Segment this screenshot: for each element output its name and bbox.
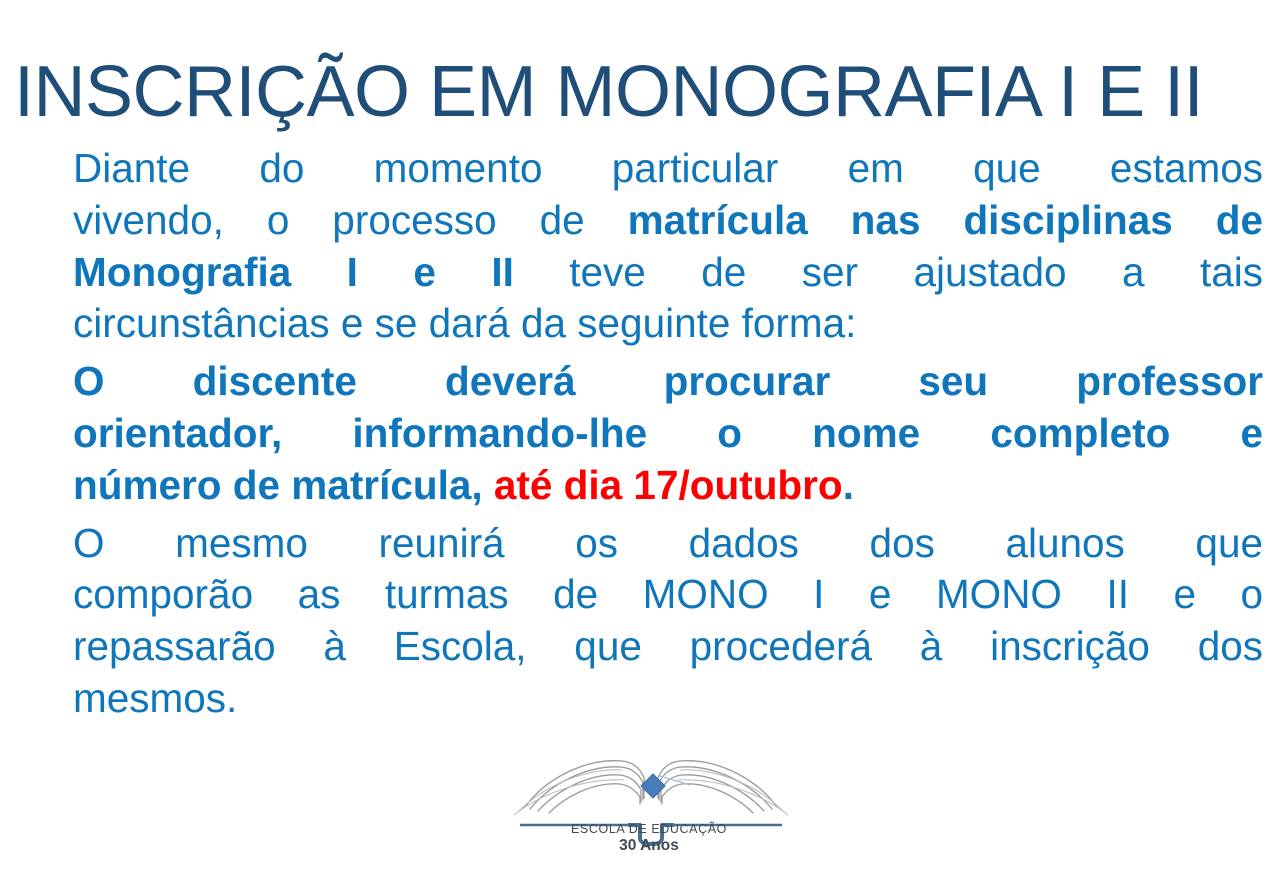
text-run: comporão as turmas de MONO I e MONO II e… [73,571,1263,617]
paragraph-followup-line-1: O mesmo reunirá os dados dos alunos que [73,518,1263,570]
paragraph-followup-line-3: repassarão à Escola, que procederá à ins… [73,621,1263,673]
paragraph-intro-line-2: vivendo, o processo de matrícula nas dis… [73,195,1263,247]
text-run: vivendo, o processo de [73,197,628,243]
paragraph-instruction-line-3: número de matrícula, até dia 17/outubro. [73,460,1263,512]
text-run: repassarão à Escola, que procederá à ins… [73,623,1263,669]
text-run: mesmos. [73,675,237,721]
text-run: circunstâncias e se dará da seguinte for… [73,300,856,346]
slide-canvas: INSCRIÇÃO EM MONOGRAFIA I E II Diante do… [0,0,1287,869]
paragraph-instruction-line-1: O discente deverá procurar seu professor [73,356,1263,408]
paragraph-instruction-line-2: orientador, informando-lhe o nome comple… [73,408,1263,460]
paragraph-intro-line-4: circunstâncias e se dará da seguinte for… [73,298,1263,350]
text-run-bold: matrícula nas disciplinas de [628,197,1263,243]
page-title: INSCRIÇÃO EM MONOGRAFIA I E II [14,54,1274,132]
slide-body: Diante do momento particular em que esta… [73,143,1263,725]
paragraph-followup-line-2: comporão as turmas de MONO I e MONO II e… [73,569,1263,621]
paragraph-intro-line-1: Diante do momento particular em que esta… [73,143,1263,195]
text-run: O mesmo reunirá os dados dos alunos que [73,520,1263,566]
escola-de-educacao-logo [494,752,804,864]
paragraph-followup-line-4: mesmos. [73,673,1263,725]
text-run-bold: O discente deverá procurar seu professor [73,358,1263,404]
text-run-bold: orientador, informando-lhe o nome comple… [73,410,1263,456]
deadline-highlight: até dia 17/outubro [494,462,843,508]
text-run: teve de ser ajustado a tais [514,249,1263,295]
paragraph-intro-line-3: Monografia I e II teve de ser ajustado a… [73,247,1263,299]
text-run-bold: Monografia I e II [73,249,514,295]
text-run-bold: número de matrícula, [73,462,494,508]
paragraph-intro: Diante do momento particular em que esta… [73,143,1263,350]
paragraph-instruction: O discente deverá procurar seu professor… [73,356,1263,511]
text-run: Diante do momento particular em que esta… [73,145,1263,191]
text-run-bold: . [843,462,854,508]
paragraph-followup: O mesmo reunirá os dados dos alunos que … [73,518,1263,725]
